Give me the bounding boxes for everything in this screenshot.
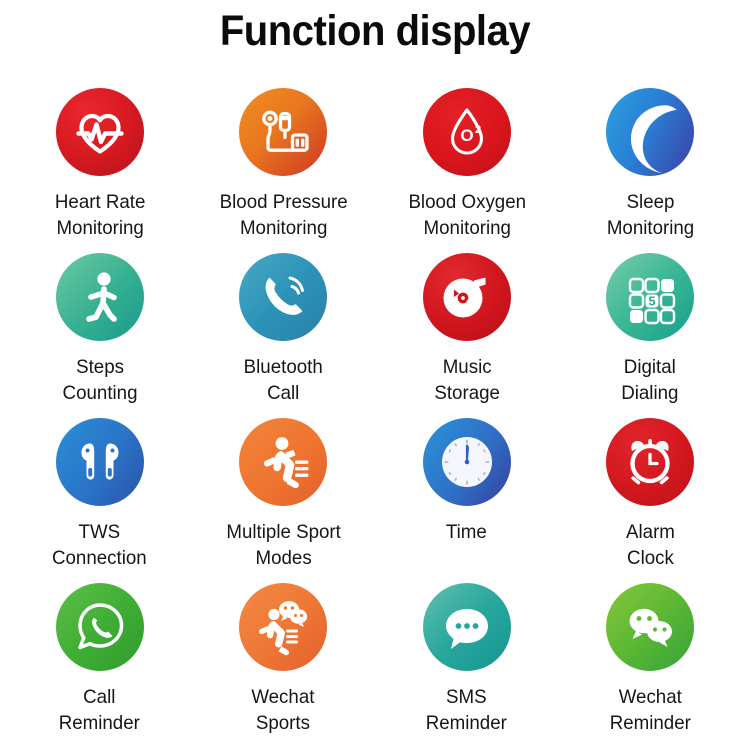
function-item-wechat-reminder[interactable]: Wechat Reminder bbox=[559, 583, 743, 748]
function-item-blood-oxygen[interactable]: O 2 Blood Oxygen Monitoring bbox=[375, 88, 559, 253]
function-item-label: Call Reminder bbox=[59, 685, 140, 737]
function-item-sleep[interactable]: Sleep Monitoring bbox=[559, 88, 743, 253]
blood-pressure-icon[interactable] bbox=[239, 88, 327, 176]
blood-oxygen-icon[interactable]: O 2 bbox=[423, 88, 511, 176]
function-item-digital-dialing[interactable]: 5 Digital Dialing bbox=[559, 253, 743, 418]
alarm-clock-icon[interactable] bbox=[606, 418, 694, 506]
function-item-call-reminder[interactable]: Call Reminder bbox=[8, 583, 192, 748]
function-item-label: Steps Counting bbox=[62, 355, 137, 407]
function-item-label: Wechat Reminder bbox=[610, 685, 691, 737]
page-title: Function display bbox=[26, 8, 724, 55]
function-item-wechat-sports[interactable]: Wechat Sports bbox=[192, 583, 376, 748]
function-item-label: Music Storage bbox=[434, 355, 500, 407]
function-item-bluetooth-call[interactable]: Bluetooth Call bbox=[192, 253, 376, 418]
function-item-alarm-clock[interactable]: Alarm Clock bbox=[559, 418, 743, 583]
dial-keypad-icon[interactable]: 5 bbox=[606, 253, 694, 341]
walking-person-icon[interactable] bbox=[56, 253, 144, 341]
function-item-label: Digital Dialing bbox=[622, 355, 679, 407]
wechat-running-icon[interactable] bbox=[239, 583, 327, 671]
crescent-moon-icon[interactable] bbox=[606, 88, 694, 176]
function-item-label: Bluetooth Call bbox=[244, 355, 323, 407]
function-item-label: Wechat Sports bbox=[252, 685, 315, 737]
wechat-bubbles-icon[interactable] bbox=[606, 583, 694, 671]
heart-rate-icon[interactable] bbox=[56, 88, 144, 176]
earbuds-icon[interactable] bbox=[56, 418, 144, 506]
clock-face-icon[interactable] bbox=[423, 418, 511, 506]
function-item-heart-rate[interactable]: Heart Rate Monitoring bbox=[8, 88, 192, 253]
sms-bubble-icon[interactable] bbox=[423, 583, 511, 671]
function-grid: Heart Rate Monitoring bbox=[8, 88, 742, 748]
function-item-label: Blood Oxygen Monitoring bbox=[408, 190, 526, 242]
function-item-label: Multiple Sport Modes bbox=[226, 520, 340, 572]
function-item-tws-connection[interactable]: TWS Connection bbox=[8, 418, 192, 583]
keypad-digit-label: 5 bbox=[649, 295, 656, 309]
blood-oxygen-superscript: 2 bbox=[475, 124, 481, 136]
function-item-label: SMS Reminder bbox=[426, 685, 507, 737]
function-item-multiple-sport-modes[interactable]: Multiple Sport Modes bbox=[192, 418, 376, 583]
function-item-label: Time bbox=[446, 520, 487, 546]
call-bubble-icon[interactable] bbox=[56, 583, 144, 671]
function-item-label: TWS Connection bbox=[52, 520, 147, 572]
function-item-label: Blood Pressure Monitoring bbox=[219, 190, 347, 242]
function-item-music-storage[interactable]: Music Storage bbox=[375, 253, 559, 418]
music-disc-icon[interactable] bbox=[423, 253, 511, 341]
function-item-time[interactable]: Time bbox=[375, 418, 559, 583]
function-item-label: Heart Rate Monitoring bbox=[54, 190, 145, 242]
function-item-sms-reminder[interactable]: SMS Reminder bbox=[375, 583, 559, 748]
function-item-blood-pressure[interactable]: Blood Pressure Monitoring bbox=[192, 88, 376, 253]
blood-oxygen-label: O bbox=[460, 126, 473, 145]
function-item-label: Alarm Clock bbox=[626, 520, 675, 572]
running-person-icon[interactable] bbox=[239, 418, 327, 506]
function-display-page: Function display Heart Rate Monitoring bbox=[0, 0, 750, 750]
function-item-label: Sleep Monitoring bbox=[607, 190, 694, 242]
function-item-steps[interactable]: Steps Counting bbox=[8, 253, 192, 418]
phone-handset-icon[interactable] bbox=[239, 253, 327, 341]
